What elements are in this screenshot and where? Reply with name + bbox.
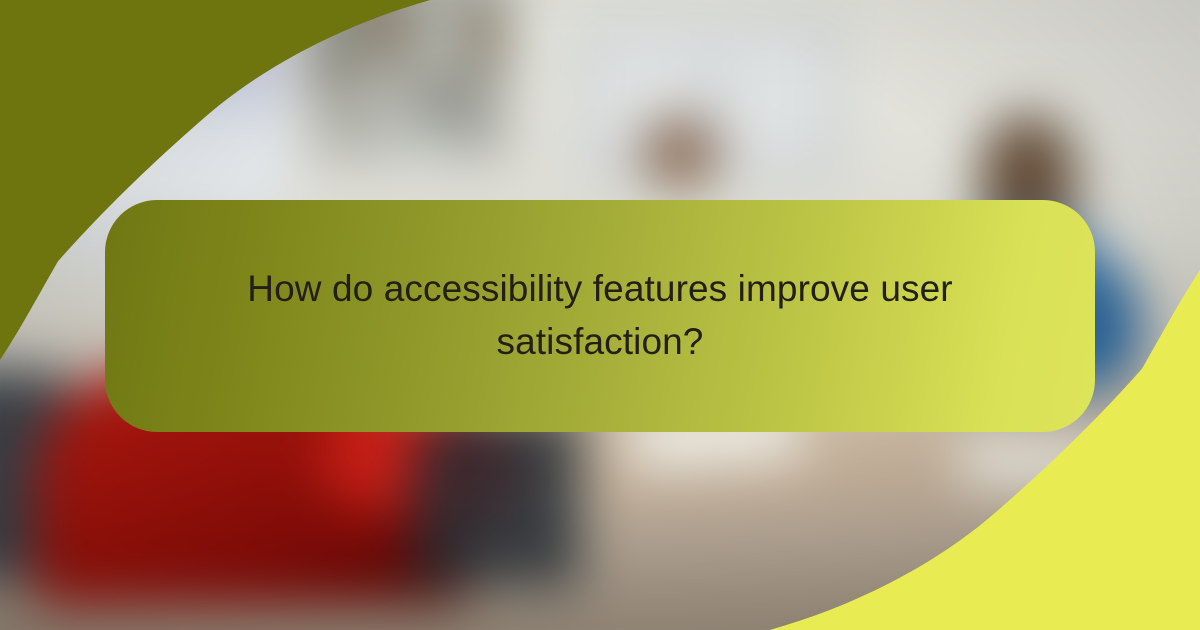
- question-text: How do accessibility features improve us…: [230, 263, 970, 368]
- question-card[interactable]: How do accessibility features improve us…: [105, 200, 1095, 432]
- question-card-canvas: How do accessibility features improve us…: [0, 0, 1200, 630]
